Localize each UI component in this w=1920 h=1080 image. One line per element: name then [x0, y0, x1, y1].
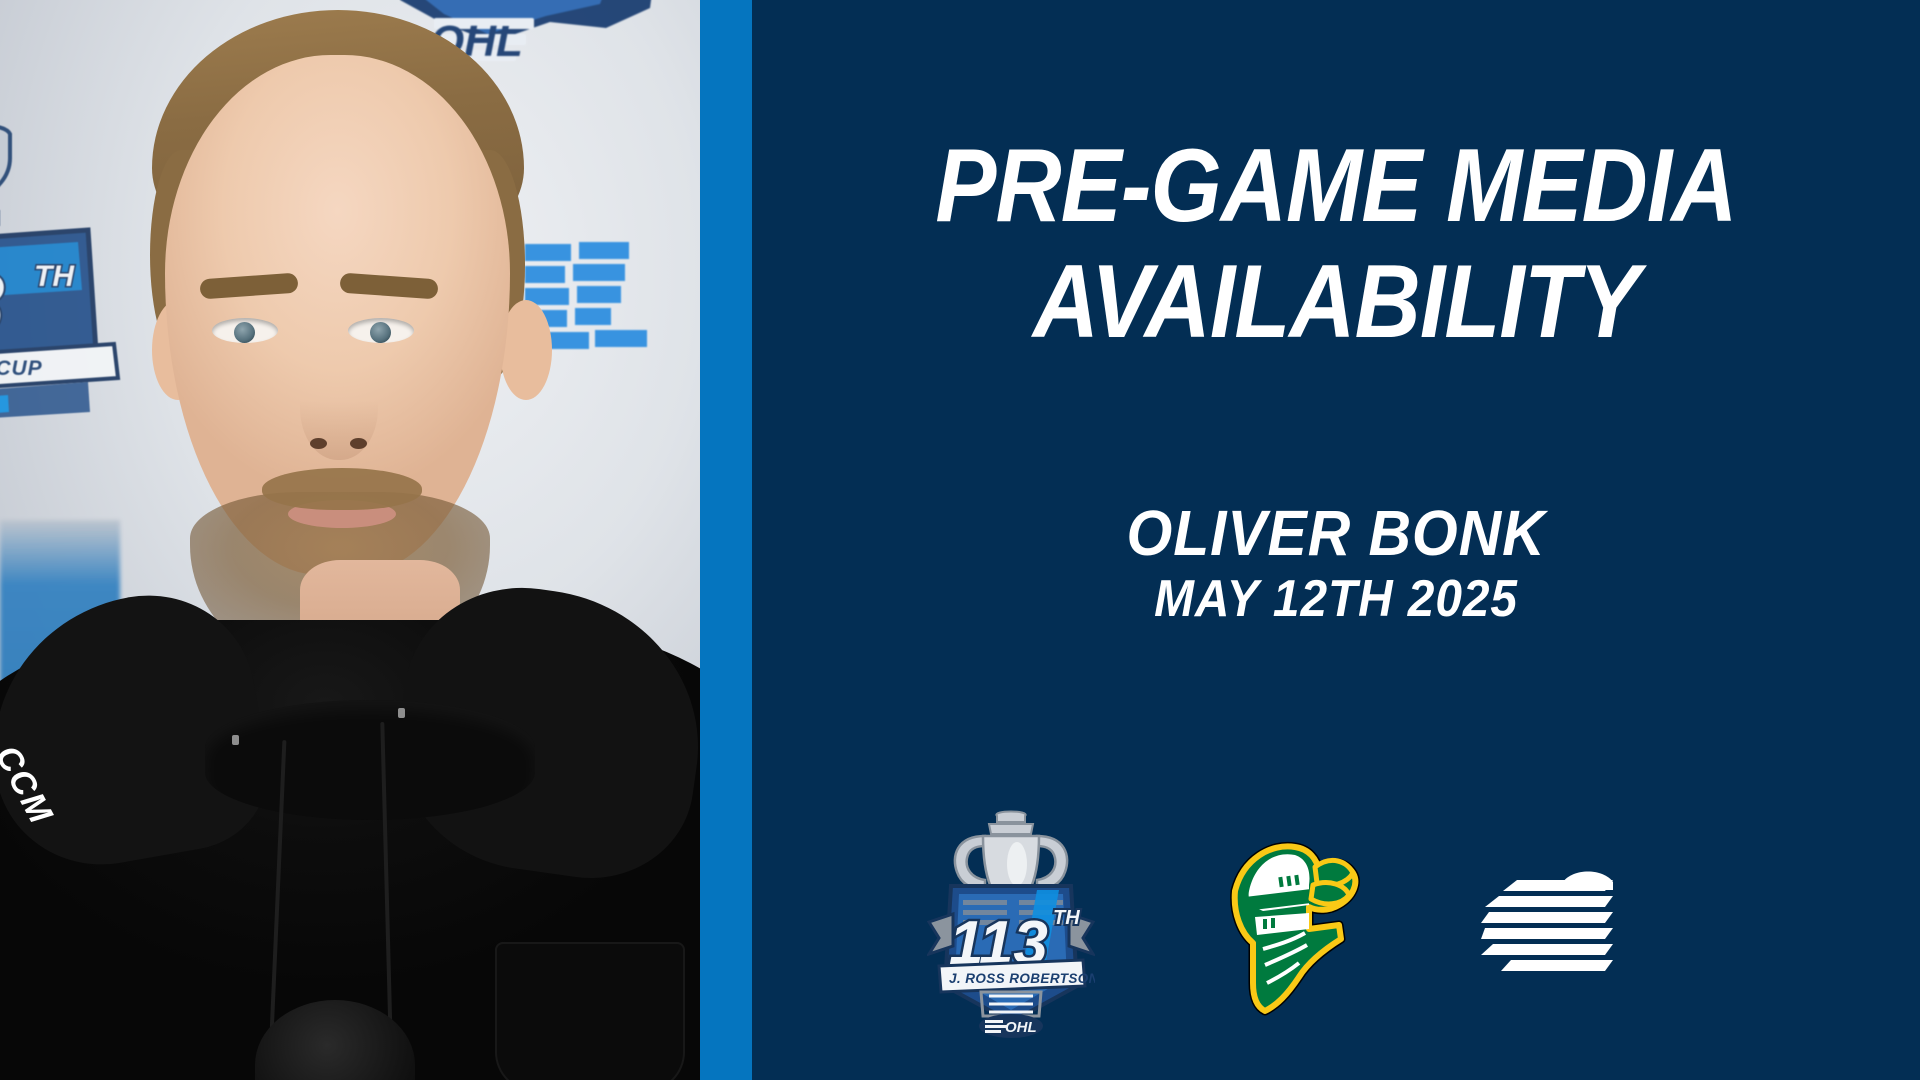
drawstring-aglet-left — [232, 735, 239, 745]
iris-left — [234, 322, 255, 343]
headline-line-2: AVAILABILITY — [822, 244, 1850, 360]
ohl-logo-icon: OHL — [1481, 868, 1746, 983]
headline-line-1: PRE-GAME MEDIA — [822, 128, 1850, 244]
nostril-left — [310, 438, 327, 449]
subject-figure: CCM — [0, 0, 700, 1080]
accent-divider-bar — [700, 0, 752, 1080]
j-ross-robertson-cup-logo-icon: 113 TH J. ROSS ROBERTSON CUP OH — [927, 810, 1095, 1040]
moustache — [262, 468, 422, 510]
drawstring-aglet-right — [398, 708, 405, 718]
hoodie-chest-crest — [495, 942, 685, 1080]
logo-row: 113 TH J. ROSS ROBERTSON CUP OH — [752, 800, 1920, 1050]
cup-caption: J. ROSS ROBERTSON CUP — [949, 971, 1095, 986]
nostril-right — [350, 438, 367, 449]
info-panel: PRE-GAME MEDIA AVAILABILITY OLIVER BONK … — [752, 0, 1920, 1080]
hoodie-collar — [205, 700, 535, 820]
iris-right — [370, 322, 391, 343]
player-photo: 3 TH SON CUP OHL — [0, 0, 700, 1080]
cup-ohl-submark: OHL — [1005, 1019, 1037, 1036]
cup-edition-suffix: TH — [1053, 907, 1080, 929]
subject-name: OLIVER BONK — [799, 500, 1874, 567]
media-availability-graphic: 3 TH SON CUP OHL — [0, 0, 1920, 1080]
subject-date: MAY 12TH 2025 — [799, 572, 1874, 627]
headline: PRE-GAME MEDIA AVAILABILITY — [822, 128, 1850, 361]
london-knights-logo-icon — [1213, 833, 1363, 1018]
